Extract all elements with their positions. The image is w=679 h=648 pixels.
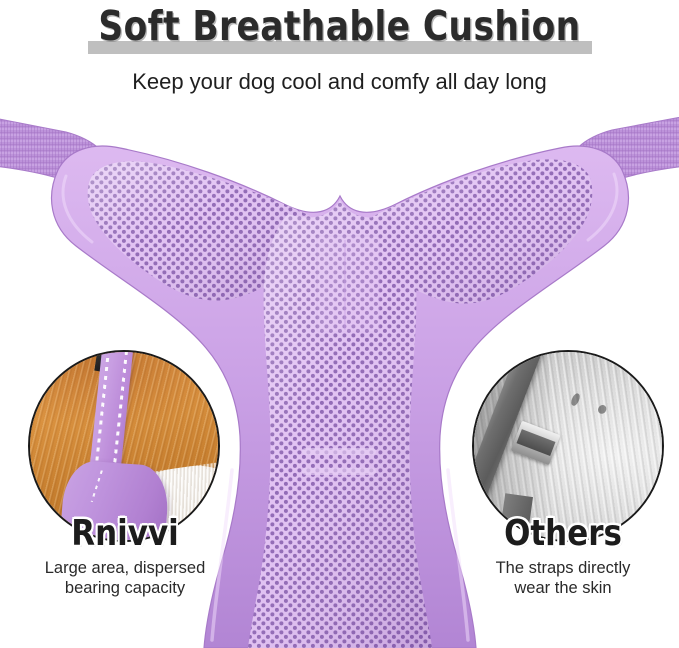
callout-caption-rnivvi: Large area, dispersed bearing capacity (14, 558, 236, 598)
callout-others: Others The straps directly wear the skin (452, 330, 674, 620)
page-title: Soft Breathable Cushion (54, 2, 624, 50)
photo-harness-pad-on-fur (30, 352, 218, 540)
caption-line-2: bearing capacity (14, 578, 236, 598)
brand-label-others: Others (468, 514, 659, 554)
callout-caption-others: The straps directly wear the skin (452, 558, 674, 598)
caption-line-1: The straps directly (452, 558, 674, 578)
caption-line-1: Large area, dispersed (14, 558, 236, 578)
headline-wrap: Soft Breathable Cushion (0, 2, 679, 50)
page-subtitle: Keep your dog cool and comfy all day lon… (0, 68, 679, 96)
brand-label-rnivvi: Rnivvi (30, 514, 221, 554)
callout-rnivvi: Rnivvi Large area, dispersed bearing cap… (14, 330, 236, 620)
product-infographic: Soft Breathable Cushion Keep your dog co… (0, 0, 679, 648)
header-block: Soft Breathable Cushion Keep your dog co… (0, 0, 679, 108)
stitched-attachment-patch (317, 236, 379, 332)
pad-stitch-line (90, 470, 103, 502)
photo-gray-strap-on-skin (474, 352, 662, 540)
caption-line-2: wear the skin (452, 578, 674, 598)
